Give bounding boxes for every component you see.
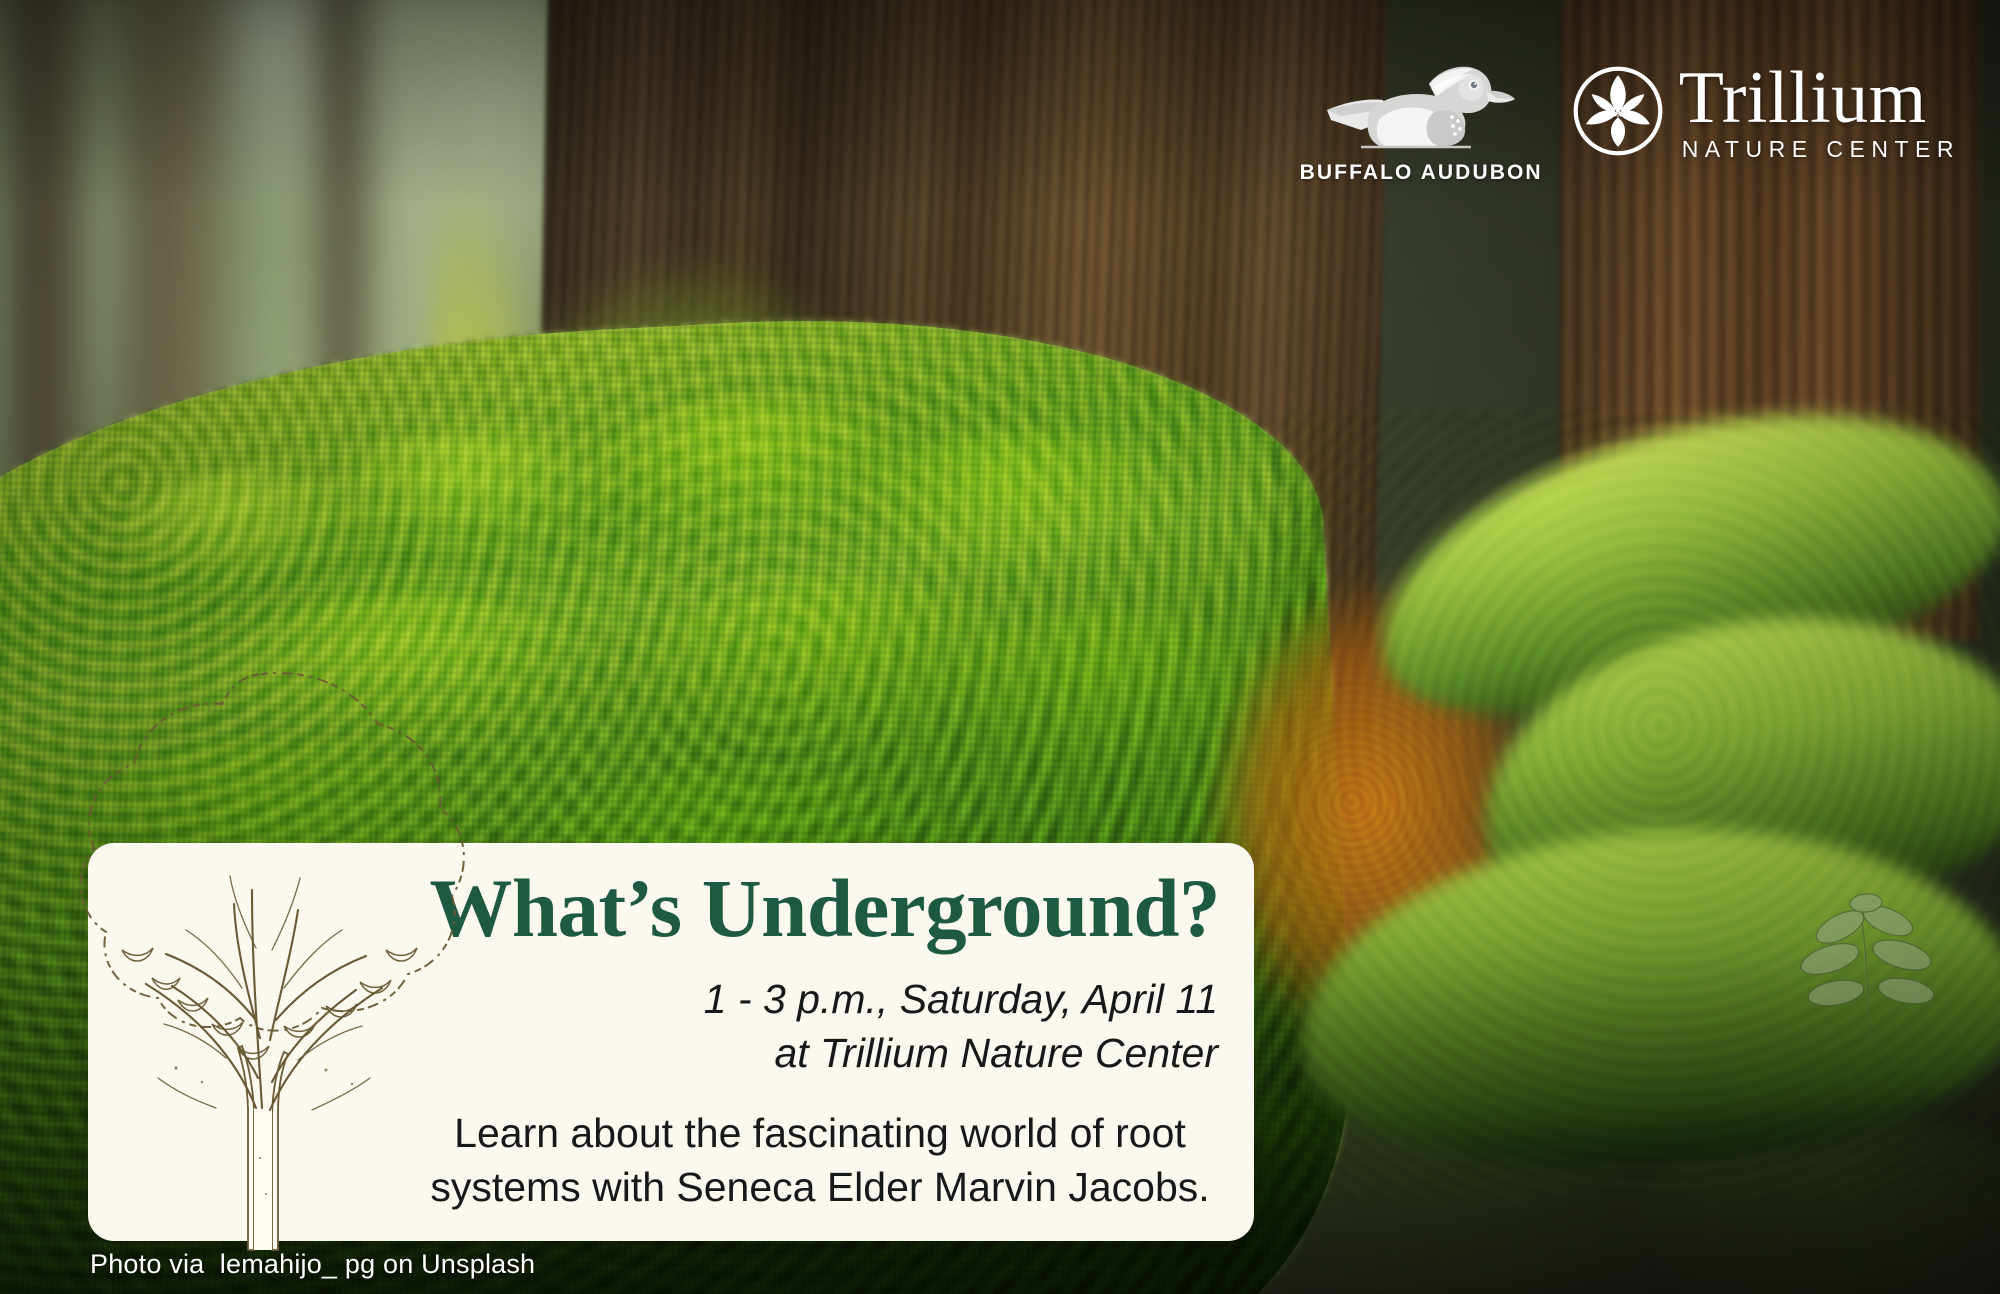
page-title: What’s Underground? [418, 867, 1220, 950]
event-details-card: What’s Underground? 1 - 3 p.m., Saturday… [88, 843, 1254, 1241]
event-description-line-1: Learn about the fascinating world of roo… [418, 1106, 1222, 1160]
event-description-line-2: systems with Seneca Elder Marvin Jacobs. [418, 1160, 1222, 1214]
trillium-name: Trillium [1679, 64, 1960, 132]
buffalo-audubon-logo: BUFFALO AUDUBON [1300, 58, 1543, 185]
trillium-subtitle: NATURE CENTER [1682, 136, 1960, 163]
root-moss-texture [1280, 410, 2000, 1200]
event-description: Learn about the fascinating world of roo… [418, 1106, 1226, 1214]
trillium-nature-center-logo: Trillium NATURE CENTER [1571, 58, 1960, 163]
event-when-where: 1 - 3 p.m., Saturday, April 11 at Trilli… [418, 972, 1218, 1080]
event-datetime: 1 - 3 p.m., Saturday, April 11 [418, 972, 1218, 1026]
audubon-wordmark: BUFFALO AUDUBON [1300, 161, 1543, 185]
wood-duck-icon [1321, 58, 1521, 158]
photo-credit: Photo via lemahijo_ pg on Unsplash [90, 1249, 535, 1280]
fern-sprig-icon [1770, 855, 1980, 1045]
event-poster: BUFFALO AUDUBON [0, 0, 2000, 1294]
logo-bar: BUFFALO AUDUBON [1300, 58, 1960, 185]
trillium-flower-icon [1571, 64, 1665, 158]
event-location: at Trillium Nature Center [418, 1026, 1218, 1080]
trillium-text-block: Trillium NATURE CENTER [1679, 64, 1960, 163]
card-text-column: What’s Underground? 1 - 3 p.m., Saturday… [418, 843, 1226, 1241]
